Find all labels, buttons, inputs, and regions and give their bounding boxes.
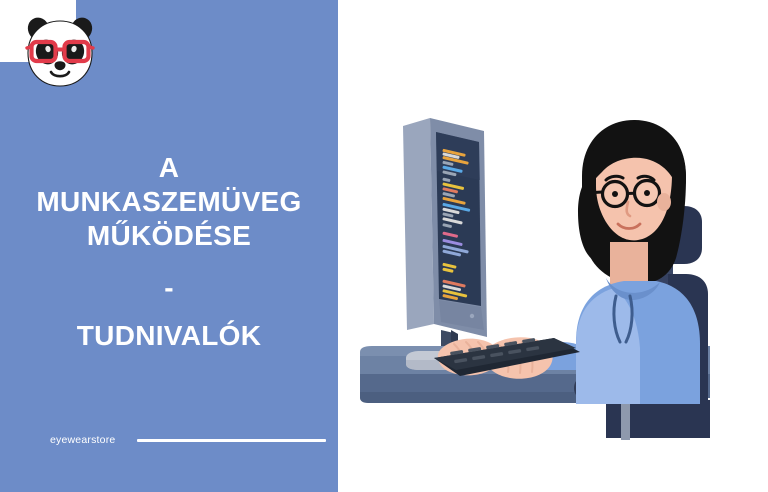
headline-line-3: MŰKÖDÉSE [8,219,330,253]
eye-right [644,190,650,196]
left-blue-panel: A MUNKASZEMÜVEG MŰKÖDÉSE - TUDNIVALÓK ey… [0,0,338,492]
monitor-power-led [470,314,474,318]
headline-line-4: TUDNIVALÓK [8,319,330,353]
poster-canvas: A MUNKASZEMÜVEG MŰKÖDÉSE - TUDNIVALÓK ey… [0,0,768,492]
monitor-back-panel [403,118,434,330]
eye-left [612,191,618,197]
footer-rule [137,439,326,442]
headline-dash: - [8,271,330,305]
ear [657,193,671,211]
headline-line-2: MUNKASZEMÜVEG [8,185,330,219]
headline-line-1: A [8,151,330,185]
chair-armrest-post [621,398,630,440]
panda-logo[interactable] [22,13,98,91]
headline: A MUNKASZEMÜVEG MŰKÖDÉSE - TUDNIVALÓK [0,151,338,354]
brand-name: eyewearstore [50,434,115,446]
illustration-woman-coding [338,0,768,492]
footer: eyewearstore [50,430,326,450]
